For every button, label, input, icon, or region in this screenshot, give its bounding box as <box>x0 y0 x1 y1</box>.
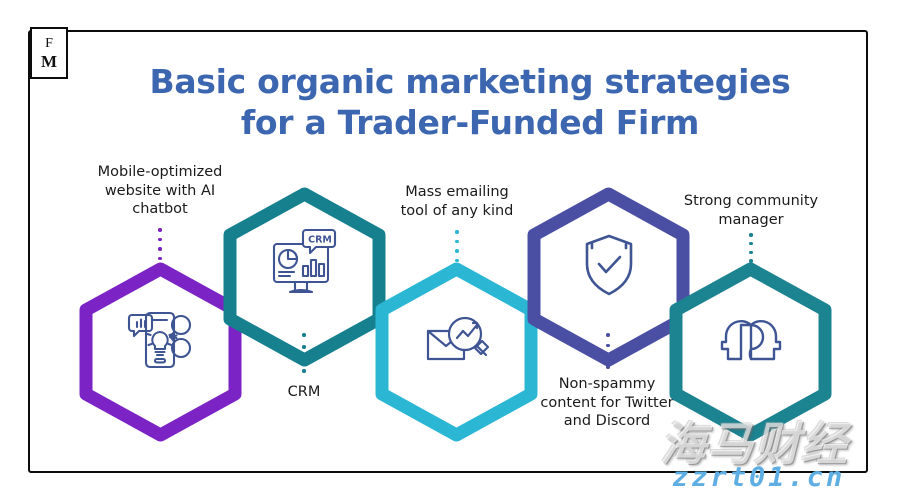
page-title: Basic organic marketing strategies for a… <box>120 62 820 144</box>
caption-crm: CRM <box>234 383 374 402</box>
connector-dots-community-manager <box>749 233 753 263</box>
connector-dots-non-spammy-content <box>606 333 610 369</box>
caption-community-manager: Strong community manager <box>655 192 847 229</box>
svg-text:CRM: CRM <box>308 235 332 246</box>
shield-check-icon <box>568 224 650 306</box>
crm-dashboard-icon: CRM <box>264 224 346 306</box>
title-line-2: for a Trader-Funded Firm <box>120 103 820 144</box>
connector-dots-crm <box>302 333 306 373</box>
caption-mass-emailing: Mass emailing tool of any kind <box>367 183 547 220</box>
connector-dots-mass-emailing <box>455 230 459 262</box>
logo-letter-m: M <box>41 53 57 70</box>
two-people-icon <box>710 299 792 381</box>
email-analytics-icon <box>416 299 498 381</box>
fm-logo-badge: F M <box>30 27 68 79</box>
mobile-chatbot-icon <box>120 299 202 381</box>
title-line-1: Basic organic marketing strategies <box>149 62 790 101</box>
connector-dots-mobile-website <box>158 228 162 260</box>
logo-letter-f: F <box>45 37 53 51</box>
infographic-canvas: F M Basic organic marketing strategies f… <box>0 0 900 499</box>
